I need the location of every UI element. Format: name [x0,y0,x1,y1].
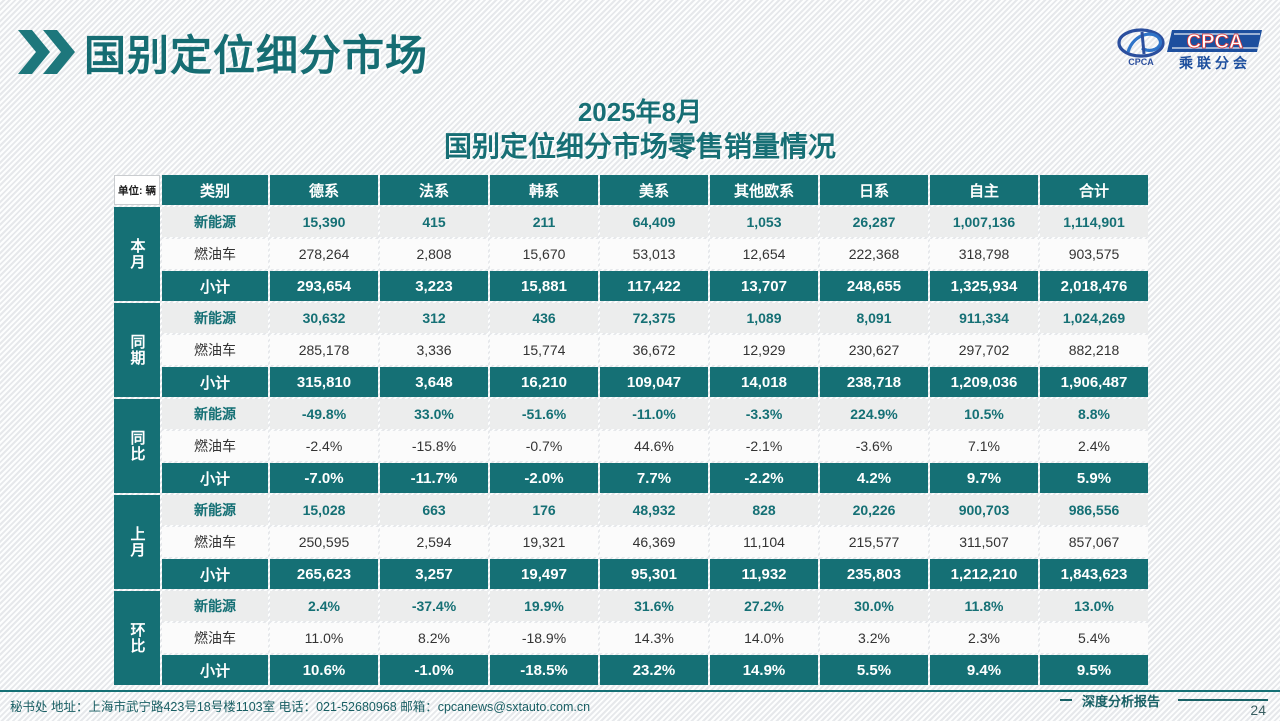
table-cell: 19,321 [490,527,598,557]
table-cell: 14.3% [600,623,708,653]
table-row: 燃油车250,5952,59419,32146,36911,104215,577… [114,527,1148,557]
table-cell: 2,018,476 [1040,271,1148,301]
table-cell: 26,287 [820,207,928,237]
footer-report-block: 深度分析报告 24 [1060,691,1270,719]
row-category-label: 燃油车 [162,431,268,461]
row-category-label: 燃油车 [162,623,268,653]
table-cell: 27.2% [710,591,818,621]
table-cell: 828 [710,495,818,525]
table-cell: 3,257 [380,559,488,589]
header-col-korean: 韩系 [490,175,598,205]
svg-text:乘联分会: 乘联分会 [1178,55,1251,71]
table-cell: 222,368 [820,239,928,269]
row-category-label: 燃油车 [162,239,268,269]
header-col-total: 合计 [1040,175,1148,205]
table-cell: 3,223 [380,271,488,301]
table-cell: -49.8% [270,399,378,429]
table-cell: 1,114,901 [1040,207,1148,237]
title-line-1: 2025年8月 [0,96,1280,129]
table-row: 本月新能源15,39041521164,4091,05326,2871,007,… [114,207,1148,237]
table-cell: 8.8% [1040,399,1148,429]
table-cell: -51.6% [490,399,598,429]
row-category-label: 小计 [162,463,268,493]
table-row: 环比新能源2.4%-37.4%19.9%31.6%27.2%30.0%11.8%… [114,591,1148,621]
footer-line-decoration [1178,699,1268,701]
table-cell: 15,774 [490,335,598,365]
table-cell: -11.7% [380,463,488,493]
table-cell: 248,655 [820,271,928,301]
table-cell: 15,881 [490,271,598,301]
table-row: 小计315,8103,64816,210109,04714,018238,718… [114,367,1148,397]
double-chevron-right-icon [18,28,76,76]
table-cell: 238,718 [820,367,928,397]
table-body: 本月新能源15,39041521164,4091,05326,2871,007,… [114,207,1148,685]
table-row: 上月新能源15,02866317648,93282820,226900,7039… [114,495,1148,525]
row-category-label: 新能源 [162,591,268,621]
table-row: 同比新能源-49.8%33.0%-51.6%-11.0%-3.3%224.9%1… [114,399,1148,429]
page-number: 24 [1250,702,1266,718]
table-cell: 224.9% [820,399,928,429]
table-cell: -2.1% [710,431,818,461]
table-cell: 16,210 [490,367,598,397]
table-cell: -2.4% [270,431,378,461]
header-col-domestic: 自主 [930,175,1038,205]
row-group-label: 同比 [114,399,160,493]
footer-contact-info: 秘书处 地址：上海市武宁路423号18号楼1103室 电话：021-526809… [10,696,590,715]
table-cell: 2.4% [270,591,378,621]
table-cell: 30.0% [820,591,928,621]
table-cell: 48,932 [600,495,708,525]
table-cell: 15,390 [270,207,378,237]
table-cell: 1,007,136 [930,207,1038,237]
footer-dash-decoration [1060,699,1072,701]
table-cell: 3,336 [380,335,488,365]
table-cell: 31.6% [600,591,708,621]
table-cell: 278,264 [270,239,378,269]
table-cell: 3.2% [820,623,928,653]
table-cell: 235,803 [820,559,928,589]
table-row: 燃油车285,1783,33615,77436,67212,929230,627… [114,335,1148,365]
table-cell: 11,932 [710,559,818,589]
row-category-label: 燃油车 [162,527,268,557]
table-row: 燃油车-2.4%-15.8%-0.7%44.6%-2.1%-3.6%7.1%2.… [114,431,1148,461]
table-cell: -18.5% [490,655,598,685]
row-group-label: 环比 [114,591,160,685]
table-cell: 11,104 [710,527,818,557]
header-col-japanese: 日系 [820,175,928,205]
table-cell: 293,654 [270,271,378,301]
table-cell: 900,703 [930,495,1038,525]
table-cell: 13.0% [1040,591,1148,621]
table-cell: 1,089 [710,303,818,333]
page-title: 国别定位细分市场 [84,22,428,83]
table-cell: 2,808 [380,239,488,269]
header-col-french: 法系 [380,175,488,205]
table-cell: 72,375 [600,303,708,333]
table-cell: 265,623 [270,559,378,589]
table-row: 燃油车278,2642,80815,67053,01312,654222,368… [114,239,1148,269]
row-category-label: 燃油车 [162,335,268,365]
row-category-label: 新能源 [162,303,268,333]
table-cell: -11.0% [600,399,708,429]
table-cell: 230,627 [820,335,928,365]
cpca-mark-icon: CPCA [1119,30,1163,67]
table-cell: 2.3% [930,623,1038,653]
table-cell: 297,702 [930,335,1038,365]
table-cell: 1,906,487 [1040,367,1148,397]
row-category-label: 小计 [162,367,268,397]
table-cell: 11.8% [930,591,1038,621]
table-cell: 903,575 [1040,239,1148,269]
table-cell: 857,067 [1040,527,1148,557]
table-cell: -37.4% [380,591,488,621]
table-cell: 2.4% [1040,431,1148,461]
row-category-label: 小计 [162,655,268,685]
table-cell: 211 [490,207,598,237]
table-cell: 64,409 [600,207,708,237]
table-row: 小计-7.0%-11.7%-2.0%7.7%-2.2%4.2%9.7%5.9% [114,463,1148,493]
table-cell: 215,577 [820,527,928,557]
table-cell: 12,654 [710,239,818,269]
table-cell: -18.9% [490,623,598,653]
table-cell: 1,209,036 [930,367,1038,397]
table-row: 燃油车11.0%8.2%-18.9%14.3%14.0%3.2%2.3%5.4% [114,623,1148,653]
table-cell: 13,707 [710,271,818,301]
table-cell: 176 [490,495,598,525]
table-cell: 33.0% [380,399,488,429]
header-col-american: 美系 [600,175,708,205]
table-cell: 19,497 [490,559,598,589]
table-cell: 53,013 [600,239,708,269]
table-cell: 312 [380,303,488,333]
table-cell: 285,178 [270,335,378,365]
table-cell: 7.1% [930,431,1038,461]
cpca-logo: CPCA CPCA 乘联分会 [1114,24,1264,72]
table-cell: 19.9% [490,591,598,621]
row-category-label: 小计 [162,271,268,301]
table-cell: 3,648 [380,367,488,397]
table-cell: 1,325,934 [930,271,1038,301]
table-cell: -2.0% [490,463,598,493]
table-cell: 436 [490,303,598,333]
table-cell: 7.7% [600,463,708,493]
table-cell: 1,053 [710,207,818,237]
table-cell: -15.8% [380,431,488,461]
table-cell: 30,632 [270,303,378,333]
table-cell: 36,672 [600,335,708,365]
table-cell: 882,218 [1040,335,1148,365]
table-cell: 1,843,623 [1040,559,1148,589]
chart-title: 2025年8月 国别定位细分市场零售销量情况 [0,96,1280,165]
table-cell: -7.0% [270,463,378,493]
table-cell: -0.7% [490,431,598,461]
table-cell: 663 [380,495,488,525]
table-cell: 9.7% [930,463,1038,493]
table-cell: 8,091 [820,303,928,333]
table-cell: 8.2% [380,623,488,653]
row-category-label: 小计 [162,559,268,589]
svg-text:CPCA: CPCA [1128,57,1154,67]
table-cell: 5.9% [1040,463,1148,493]
table-cell: 415 [380,207,488,237]
table-cell: 2,594 [380,527,488,557]
title-line-2: 国别定位细分市场零售销量情况 [0,129,1280,165]
table-cell: 10.5% [930,399,1038,429]
table-cell: 20,226 [820,495,928,525]
table-cell: -1.0% [380,655,488,685]
table-cell: 986,556 [1040,495,1148,525]
table-row: 小计265,6233,25719,49795,30111,932235,8031… [114,559,1148,589]
table-cell: 14.9% [710,655,818,685]
table-cell: 4.2% [820,463,928,493]
table-cell: 46,369 [600,527,708,557]
table-cell: 15,028 [270,495,378,525]
table-cell: 5.5% [820,655,928,685]
table-cell: 9.4% [930,655,1038,685]
svg-text:CPCA: CPCA [1187,31,1244,53]
table-header-row: 单位: 辆 类别 德系 法系 韩系 美系 其他欧系 日系 自主 合计 [114,175,1148,205]
table-header: 单位: 辆 类别 德系 法系 韩系 美系 其他欧系 日系 自主 合计 [114,175,1148,205]
footer-report-label: 深度分析报告 [1082,691,1160,710]
table-row: 同期新能源30,63231243672,3751,0898,091911,334… [114,303,1148,333]
table-cell: 109,047 [600,367,708,397]
header-col-other-european: 其他欧系 [710,175,818,205]
table-cell: -3.3% [710,399,818,429]
table-cell: 95,301 [600,559,708,589]
header-col-category: 类别 [162,175,268,205]
table-cell: 10.6% [270,655,378,685]
table-cell: 12,929 [710,335,818,365]
table-cell: 44.6% [600,431,708,461]
table-cell: 311,507 [930,527,1038,557]
table-cell: 117,422 [600,271,708,301]
row-group-label: 同期 [114,303,160,397]
table-cell: 250,595 [270,527,378,557]
sales-table-container: 单位: 辆 类别 德系 法系 韩系 美系 其他欧系 日系 自主 合计 本月新能源… [112,173,1130,687]
table-cell: 15,670 [490,239,598,269]
table-cell: 5.4% [1040,623,1148,653]
table-cell: 14,018 [710,367,818,397]
row-category-label: 新能源 [162,399,268,429]
slide-header: 国别定位细分市场 CPCA CPCA 乘联分会 [0,0,1280,88]
row-category-label: 新能源 [162,207,268,237]
table-cell: 315,810 [270,367,378,397]
table-cell: 318,798 [930,239,1038,269]
row-category-label: 新能源 [162,495,268,525]
table-cell: 9.5% [1040,655,1148,685]
table-cell: 1,212,210 [930,559,1038,589]
row-group-label: 本月 [114,207,160,301]
table-cell: 11.0% [270,623,378,653]
sales-table: 单位: 辆 类别 德系 法系 韩系 美系 其他欧系 日系 自主 合计 本月新能源… [112,173,1150,687]
row-group-label: 上月 [114,495,160,589]
table-cell: -2.2% [710,463,818,493]
table-cell: 1,024,269 [1040,303,1148,333]
table-cell: 911,334 [930,303,1038,333]
table-row: 小计10.6%-1.0%-18.5%23.2%14.9%5.5%9.4%9.5% [114,655,1148,685]
header-unit-label: 单位: 辆 [114,175,160,205]
table-cell: -3.6% [820,431,928,461]
table-cell: 23.2% [600,655,708,685]
header-col-german: 德系 [270,175,378,205]
table-row: 小计293,6543,22315,881117,42213,707248,655… [114,271,1148,301]
table-cell: 14.0% [710,623,818,653]
